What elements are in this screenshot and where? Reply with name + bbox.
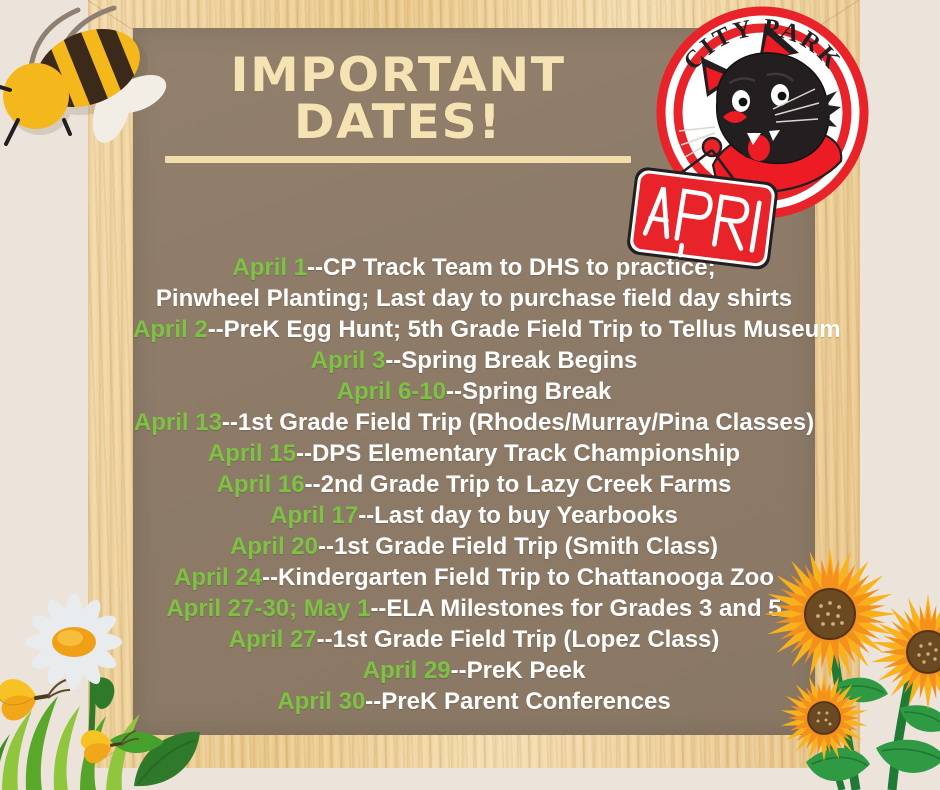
date-label: April 17: [270, 502, 358, 529]
date-sep: --: [262, 564, 278, 591]
date-sep: --: [385, 347, 401, 374]
sunflower-large: [764, 548, 896, 680]
title-underline: [165, 156, 631, 163]
list-item: April 3--Spring Break Begins: [133, 345, 815, 376]
bottom-right-sunflowers: [752, 548, 940, 790]
date-sep: --: [318, 533, 334, 560]
page-title: IMPORTANT DATES!: [133, 52, 663, 163]
list-item: April 20--1st Grade Field Trip (Smith Cl…: [133, 531, 815, 562]
list-item: April 16--2nd Grade Trip to Lazy Creek F…: [133, 469, 815, 500]
date-desc: Kindergarten Field Trip to Chattanooga Z…: [278, 564, 774, 591]
butterfly-large: [0, 679, 70, 720]
date-label: April 1: [232, 254, 307, 281]
date-desc: 1st Grade Field Trip (Rhodes/Murray/Pina…: [238, 409, 814, 436]
date-sep: --: [446, 378, 462, 405]
date-sep: --: [296, 440, 312, 467]
poster-canvas: IMPORTANT DATES! April 1--CP Track Team …: [0, 0, 940, 788]
date-desc: ELA Milestones for Grades 3 and 5: [386, 595, 781, 622]
date-desc: Last day to buy Yearbooks: [374, 502, 678, 529]
date-desc: Spring Break Begins: [401, 347, 637, 374]
date-desc: 1st Grade Field Trip (Smith Class): [334, 533, 718, 560]
date-desc: 1st Grade Field Trip (Lopez Class): [333, 626, 720, 653]
page-title-text: IMPORTANT DATES!: [122, 52, 673, 146]
date-desc: Pinwheel Planting; Last day to purchase …: [156, 285, 792, 312]
date-desc: PreK Parent Conferences: [381, 688, 670, 715]
list-item: April 15--DPS Elementary Track Champions…: [133, 438, 815, 469]
sunflower-leaf-lower: [806, 748, 870, 781]
date-label: April 6-10: [337, 378, 446, 405]
date-sep: --: [307, 254, 323, 281]
list-item: April 17--Last day to buy Yearbooks: [133, 500, 815, 531]
date-sep: --: [451, 657, 467, 684]
date-label: April 30: [277, 688, 365, 715]
date-desc: PreK Egg Hunt; 5th Grade Field Trip to T…: [224, 316, 841, 343]
date-label: April 29: [363, 657, 451, 684]
date-desc: 2nd Grade Trip to Lazy Creek Farms: [321, 471, 732, 498]
list-item: April 24--Kindergarten Field Trip to Cha…: [133, 562, 815, 593]
date-label: April 24: [174, 564, 262, 591]
date-desc: Spring Break: [462, 378, 611, 405]
date-desc: PreK Peek: [467, 657, 586, 684]
date-sep: --: [305, 471, 321, 498]
bottom-left-flora: [0, 590, 258, 790]
date-desc: DPS Elementary Track Championship: [312, 440, 740, 467]
list-item: April 2--PreK Egg Hunt; 5th Grade Field …: [133, 314, 815, 345]
april-sign: APRIL: [613, 130, 798, 280]
date-sep: --: [358, 502, 374, 529]
date-label: April 16: [217, 471, 305, 498]
date-sep: --: [370, 595, 386, 622]
date-sep: --: [317, 626, 333, 653]
date-sep: --: [365, 688, 381, 715]
date-label: April 2: [133, 316, 208, 343]
daisy-flower: [26, 594, 122, 690]
list-item: Pinwheel Planting; Last day to purchase …: [133, 283, 815, 314]
date-label: April 13: [134, 409, 222, 436]
bee-head: [3, 63, 69, 129]
date-label: April 15: [208, 440, 296, 467]
date-label: April 3: [311, 347, 386, 374]
date-sep: --: [208, 316, 224, 343]
date-sep: --: [222, 409, 238, 436]
bee-icon: [0, 2, 170, 154]
list-item: April 6-10--Spring Break: [133, 376, 815, 407]
list-item: April 13--1st Grade Field Trip (Rhodes/M…: [133, 407, 815, 438]
date-label: April 20: [230, 533, 318, 560]
